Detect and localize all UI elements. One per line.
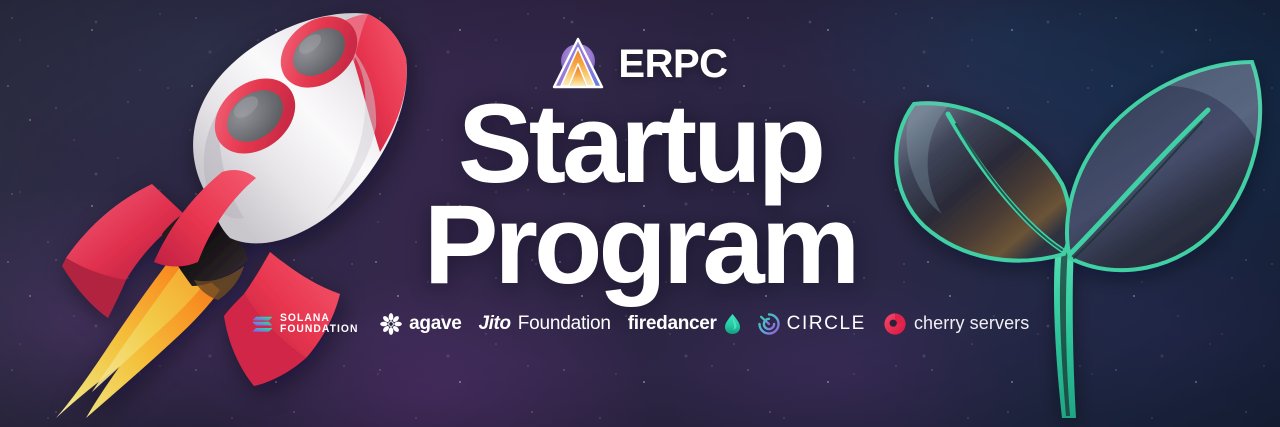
sprout-leaf-right bbox=[1067, 62, 1261, 270]
jito-label-light: Foundation bbox=[518, 313, 611, 335]
jito-label-bold: Jito bbox=[479, 313, 511, 335]
page-title: Startup Program bbox=[424, 94, 857, 296]
circle-logo-icon bbox=[758, 313, 780, 335]
page-title-line-2: Program bbox=[424, 195, 857, 296]
solana-foundation-label: SOLANA FOUNDATION bbox=[280, 313, 359, 335]
solana-label-line-2: FOUNDATION bbox=[280, 324, 359, 335]
partner-circle[interactable]: CIRCLE bbox=[758, 313, 866, 335]
rocket-3d-illustration bbox=[34, 0, 434, 424]
circle-label: CIRCLE bbox=[787, 313, 866, 335]
partner-solana-foundation[interactable]: SOLANA FOUNDATION bbox=[251, 313, 364, 335]
partner-cherry-servers[interactable]: cherry servers bbox=[883, 312, 1029, 336]
solana-logo-icon bbox=[251, 315, 273, 333]
sprout-3d-illustration bbox=[866, 14, 1280, 427]
startup-program-banner: ERPC Startup Program bbox=[0, 0, 1280, 427]
partner-jito-foundation[interactable]: Jito Foundation bbox=[479, 313, 611, 335]
firedancer-flame-icon bbox=[724, 313, 741, 335]
agave-flower-icon bbox=[380, 313, 402, 335]
firedancer-label: firedancer bbox=[628, 313, 717, 335]
sprout-leaf-left bbox=[896, 101, 1069, 261]
partner-logos-row: SOLANA FOUNDATION bbox=[251, 312, 1030, 336]
cherry-servers-icon bbox=[883, 312, 907, 336]
partner-firedancer[interactable]: firedancer bbox=[628, 313, 741, 335]
brand-name: ERPC bbox=[618, 44, 727, 84]
cherry-servers-label: cherry servers bbox=[914, 313, 1029, 334]
agave-label: agave bbox=[409, 313, 461, 335]
partner-agave[interactable]: agave bbox=[380, 313, 461, 335]
